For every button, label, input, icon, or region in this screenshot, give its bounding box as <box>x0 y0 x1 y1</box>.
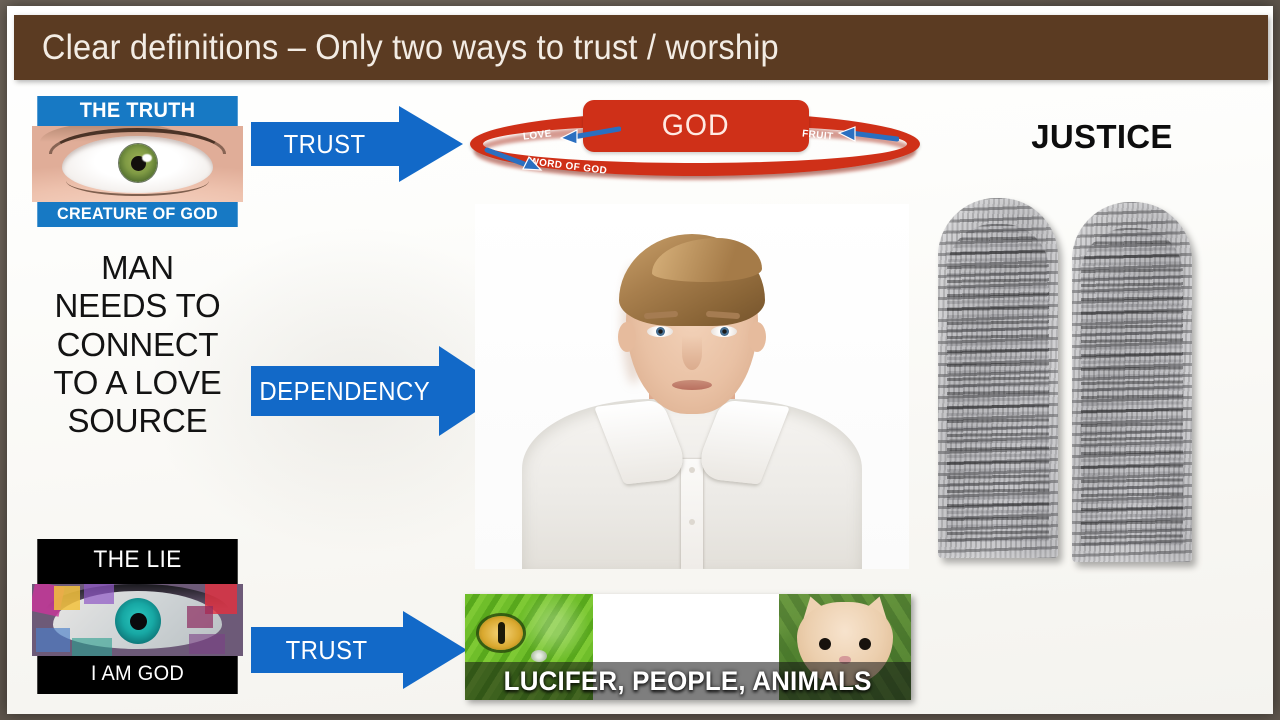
fruit-arrow-icon <box>833 125 899 145</box>
lie-panel-top-caption: THE LIE <box>37 539 237 584</box>
lie-panel: THE LIE I AM GOD <box>32 539 243 694</box>
lucifer-people-animals-banner: LUCIFER, PEOPLE, ANIMALS <box>465 594 911 700</box>
truth-panel-top-caption: THE TRUTH <box>37 96 237 126</box>
god-center-label: GOD <box>662 109 730 143</box>
man-portrait-white-shirt <box>475 204 909 569</box>
truth-panel-bottom-caption: CREATURE OF GOD <box>37 202 237 227</box>
ten-commandments-stone-tablets <box>932 198 1202 576</box>
love-arrow-icon <box>555 125 621 145</box>
human-green-eye-photo <box>32 126 243 202</box>
mosaic-teal-eye-artwork <box>32 584 243 656</box>
word-of-god-arrow-icon <box>483 146 547 172</box>
statement-line-1: MAN <box>32 249 243 287</box>
lie-panel-bottom-caption: I AM GOD <box>37 656 237 694</box>
stone-tablet-right <box>1072 202 1192 562</box>
slide-title: Clear definitions – Only two ways to tru… <box>14 28 779 68</box>
truth-panel: THE TRUTH CREATURE OF GOD <box>32 96 243 227</box>
justice-heading: JUSTICE <box>937 118 1267 156</box>
statement-line-5: SOURCE <box>32 402 243 440</box>
statement-line-4: TO A LOVE <box>32 364 243 402</box>
connect-statement: MAN NEEDS TO CONNECT TO A LOVE SOURCE <box>32 249 243 440</box>
trust-arrow-top[interactable]: TRUST <box>251 106 463 182</box>
slide-canvas: Clear definitions – Only two ways to tru… <box>7 6 1273 714</box>
god-cycle-diagram: GOD LOVE FRUIT WORD OF GOD <box>465 98 925 186</box>
trust-arrow-top-label: TRUST <box>284 129 366 160</box>
banner-caption-text: LUCIFER, PEOPLE, ANIMALS <box>504 666 872 697</box>
banner-caption: LUCIFER, PEOPLE, ANIMALS <box>465 662 911 700</box>
stone-tablet-left <box>938 198 1058 558</box>
dependency-arrow-middle[interactable]: DEPENDENCY <box>251 346 507 436</box>
statement-line-3: CONNECT <box>32 326 243 364</box>
trust-arrow-bottom-label: TRUST <box>286 635 368 666</box>
statement-line-2: NEEDS TO <box>32 287 243 325</box>
slide-title-bar: Clear definitions – Only two ways to tru… <box>14 15 1268 80</box>
dependency-arrow-label: DEPENDENCY <box>260 376 431 407</box>
trust-arrow-bottom[interactable]: TRUST <box>251 611 469 689</box>
